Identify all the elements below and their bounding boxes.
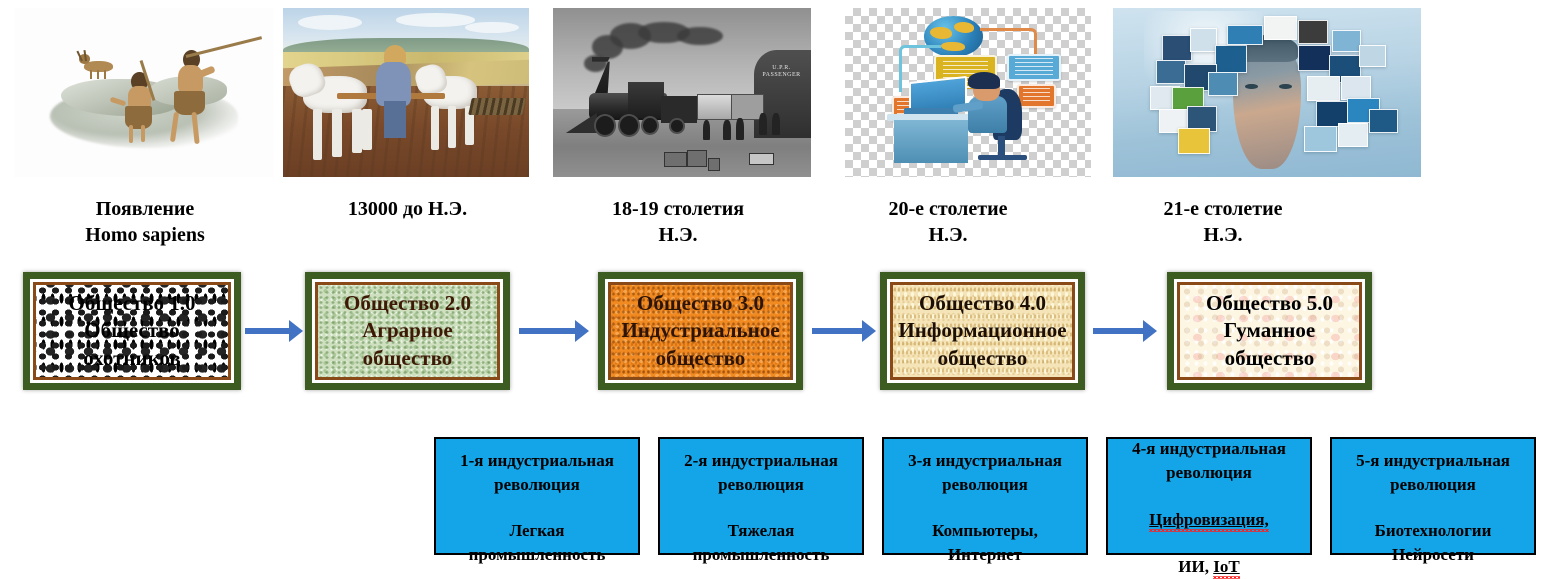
revolution-box-3-detail: Компьютеры, Интернет: [932, 521, 1038, 563]
revolution-box-1-title: 1-я индустриальная революция: [460, 451, 614, 493]
revolution-box-1-text: 1-я индустриальная революция Легкая пром…: [456, 426, 618, 567]
goat-figure: [84, 52, 113, 77]
revolution-box-4-title: 4-я индустриальная революция: [1132, 439, 1286, 481]
freight-car: [697, 94, 733, 120]
revolution-box-2-text: 2-я индустриальная революция Тяжелая про…: [680, 426, 842, 567]
hunter-throwing: [167, 50, 214, 143]
society-box-5-inner: Общество 5.0 Гуманное общество: [1177, 282, 1362, 380]
revolution-box-5-detail: Биотехнологии Нейросети: [1375, 521, 1492, 563]
era-label-4: 20-е столетие Н.Э.: [823, 196, 1073, 249]
harrow: [468, 98, 526, 115]
screen-orange-right: [1017, 84, 1055, 108]
hunter-crouching: [118, 72, 162, 143]
era-label-3: 18-19 столетия Н.Э.: [553, 196, 803, 249]
revolution-box-4-detail-ai: ИИ,: [1178, 557, 1213, 576]
society-box-5[interactable]: Общество 5.0 Гуманное общество: [1167, 272, 1372, 390]
desk-cabinet: [894, 120, 968, 164]
society-box-1-text: Общество 1.0 Общество охотников: [69, 290, 196, 372]
society-box-1[interactable]: Общество 1.0 Общество охотников: [23, 272, 241, 390]
station-sign: U.P.R. PASSENGER: [762, 65, 800, 79]
revolution-box-4-text: 4-я индустриальная революция Цифровизаци…: [1128, 414, 1290, 578]
era-label-1: Появление Homo sapiens: [30, 196, 260, 249]
era-label-2: 13000 до Н.Э.: [290, 196, 525, 222]
spear-2: [185, 36, 261, 58]
computer-workplace-illustration: [845, 8, 1091, 177]
revolution-box-2[interactable]: 2-я индустриальная революция Тяжелая про…: [658, 437, 864, 555]
seated-person-hair: [968, 72, 1000, 89]
society-box-3-text: Общество 3.0 Индустриальное общество: [621, 290, 779, 372]
revolution-box-5-text: 5-я индустриальная революция Биотехнолог…: [1352, 426, 1514, 567]
arrow-2-to-3: [519, 320, 589, 342]
office-chair-stem: [998, 136, 1005, 156]
steam-locomotive-engraving: U.P.R. PASSENGER: [553, 8, 811, 177]
arrow-3-to-4: [812, 320, 876, 342]
revolution-box-2-detail: Тяжелая промышленность: [693, 521, 830, 563]
digital-face-photo: [1113, 8, 1421, 177]
revolution-box-3-text: 3-я индустриальная революция Компьютеры,…: [904, 426, 1066, 567]
revolution-box-3[interactable]: 3-я индустриальная революция Компьютеры,…: [882, 437, 1088, 555]
era-label-5: 21-е столетие Н.Э.: [1098, 196, 1348, 249]
prehistoric-hunters-illustration: [14, 8, 274, 177]
revolution-box-5[interactable]: 5-я индустриальная революция Биотехнолог…: [1330, 437, 1536, 555]
screen-blue-right: [1007, 54, 1060, 82]
society-box-2[interactable]: Общество 2.0 Аграрное общество: [305, 272, 510, 390]
locomotive-cab: [628, 82, 664, 117]
society-box-2-inner: Общество 2.0 Аграрное общество: [315, 282, 500, 380]
arrow-4-to-5: [1093, 320, 1157, 342]
revolution-box-4-detail-digitalization: Цифровизация,: [1149, 510, 1269, 532]
society-box-5-text: Общество 5.0 Гуманное общество: [1206, 290, 1333, 372]
society-box-3[interactable]: Общество 3.0 Индустриальное общество: [598, 272, 803, 390]
revolution-box-3-title: 3-я индустриальная революция: [908, 451, 1062, 493]
society-box-4-text: Общество 4.0 Информационное общество: [898, 290, 1066, 372]
revolution-box-2-title: 2-я индустриальная революция: [684, 451, 838, 493]
infographic-canvas: U.P.R. PASSENGER: [0, 0, 1553, 569]
revolution-box-4[interactable]: 4-я индустриальная революция Цифровизаци…: [1106, 437, 1312, 555]
society-box-2-text: Общество 2.0 Аграрное общество: [344, 290, 471, 372]
society-box-3-inner: Общество 3.0 Индустриальное общество: [608, 282, 793, 380]
office-chair-base: [978, 155, 1027, 160]
revolution-box-5-title: 5-я индустриальная революция: [1356, 451, 1510, 493]
revolution-box-1[interactable]: 1-я индустриальная революция Легкая пром…: [434, 437, 640, 555]
farmer-plowing-illustration: [283, 8, 529, 177]
arrow-1-to-2: [245, 320, 303, 342]
society-box-4-inner: Общество 4.0 Информационное общество: [890, 282, 1075, 380]
society-box-1-inner: Общество 1.0 Общество охотников: [33, 282, 231, 380]
society-box-4[interactable]: Общество 4.0 Информационное общество: [880, 272, 1085, 390]
revolution-box-4-detail-iot: IoT: [1213, 557, 1239, 579]
revolution-box-1-detail: Легкая промышленность: [469, 521, 606, 563]
